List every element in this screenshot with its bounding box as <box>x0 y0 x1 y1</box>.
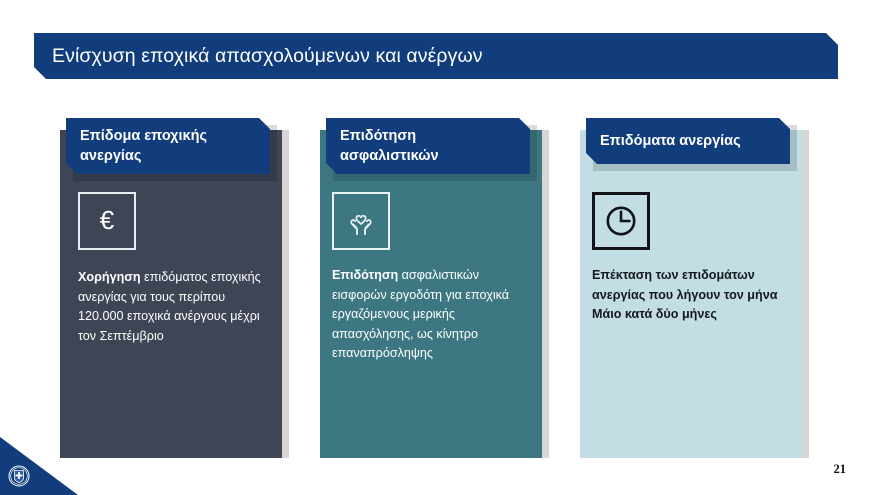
page-title: Ενίσχυση εποχικά απασχολούμενων και ανέρ… <box>34 45 483 68</box>
euro-icon: € <box>78 192 136 250</box>
slide-title-banner: Ενίσχυση εποχικά απασχολούμενων και ανέρ… <box>34 33 838 79</box>
card-1-body-lead: Χορήγηση <box>78 270 144 284</box>
card-2-header: Επιδότηση ασφαλιστικών <box>326 118 530 174</box>
card-1-body: Χορήγηση επιδόματος εποχικής ανεργίας γι… <box>78 268 268 346</box>
card-2-body: Επιδότηση ασφαλιστικών εισφορών εργοδότη… <box>332 266 522 364</box>
card-1-header: Επίδομα εποχικής ανεργίας <box>66 118 270 174</box>
slide-canvas: Ενίσχυση εποχικά απασχολούμενων και ανέρ… <box>0 0 880 495</box>
heart-in-hands-icon <box>332 192 390 250</box>
hellenic-republic-emblem <box>8 465 30 487</box>
card-3-header-label: Επιδόματα ανεργίας <box>600 131 741 151</box>
card-3-body: Επέκταση των επιδομάτων ανεργίας που λήγ… <box>592 266 782 325</box>
clock-icon <box>592 192 650 250</box>
card-3-header: Επιδόματα ανεργίας <box>586 118 790 164</box>
page-number: 21 <box>834 462 847 477</box>
svg-text:€: € <box>100 205 115 235</box>
card-1-header-label: Επίδομα εποχικής ανεργίας <box>80 126 256 166</box>
card-2-header-label: Επιδότηση ασφαλιστικών <box>340 126 516 166</box>
card-2-body-lead: Επιδότηση <box>332 268 402 282</box>
card-3-body-lead: Επέκταση <box>592 268 656 282</box>
